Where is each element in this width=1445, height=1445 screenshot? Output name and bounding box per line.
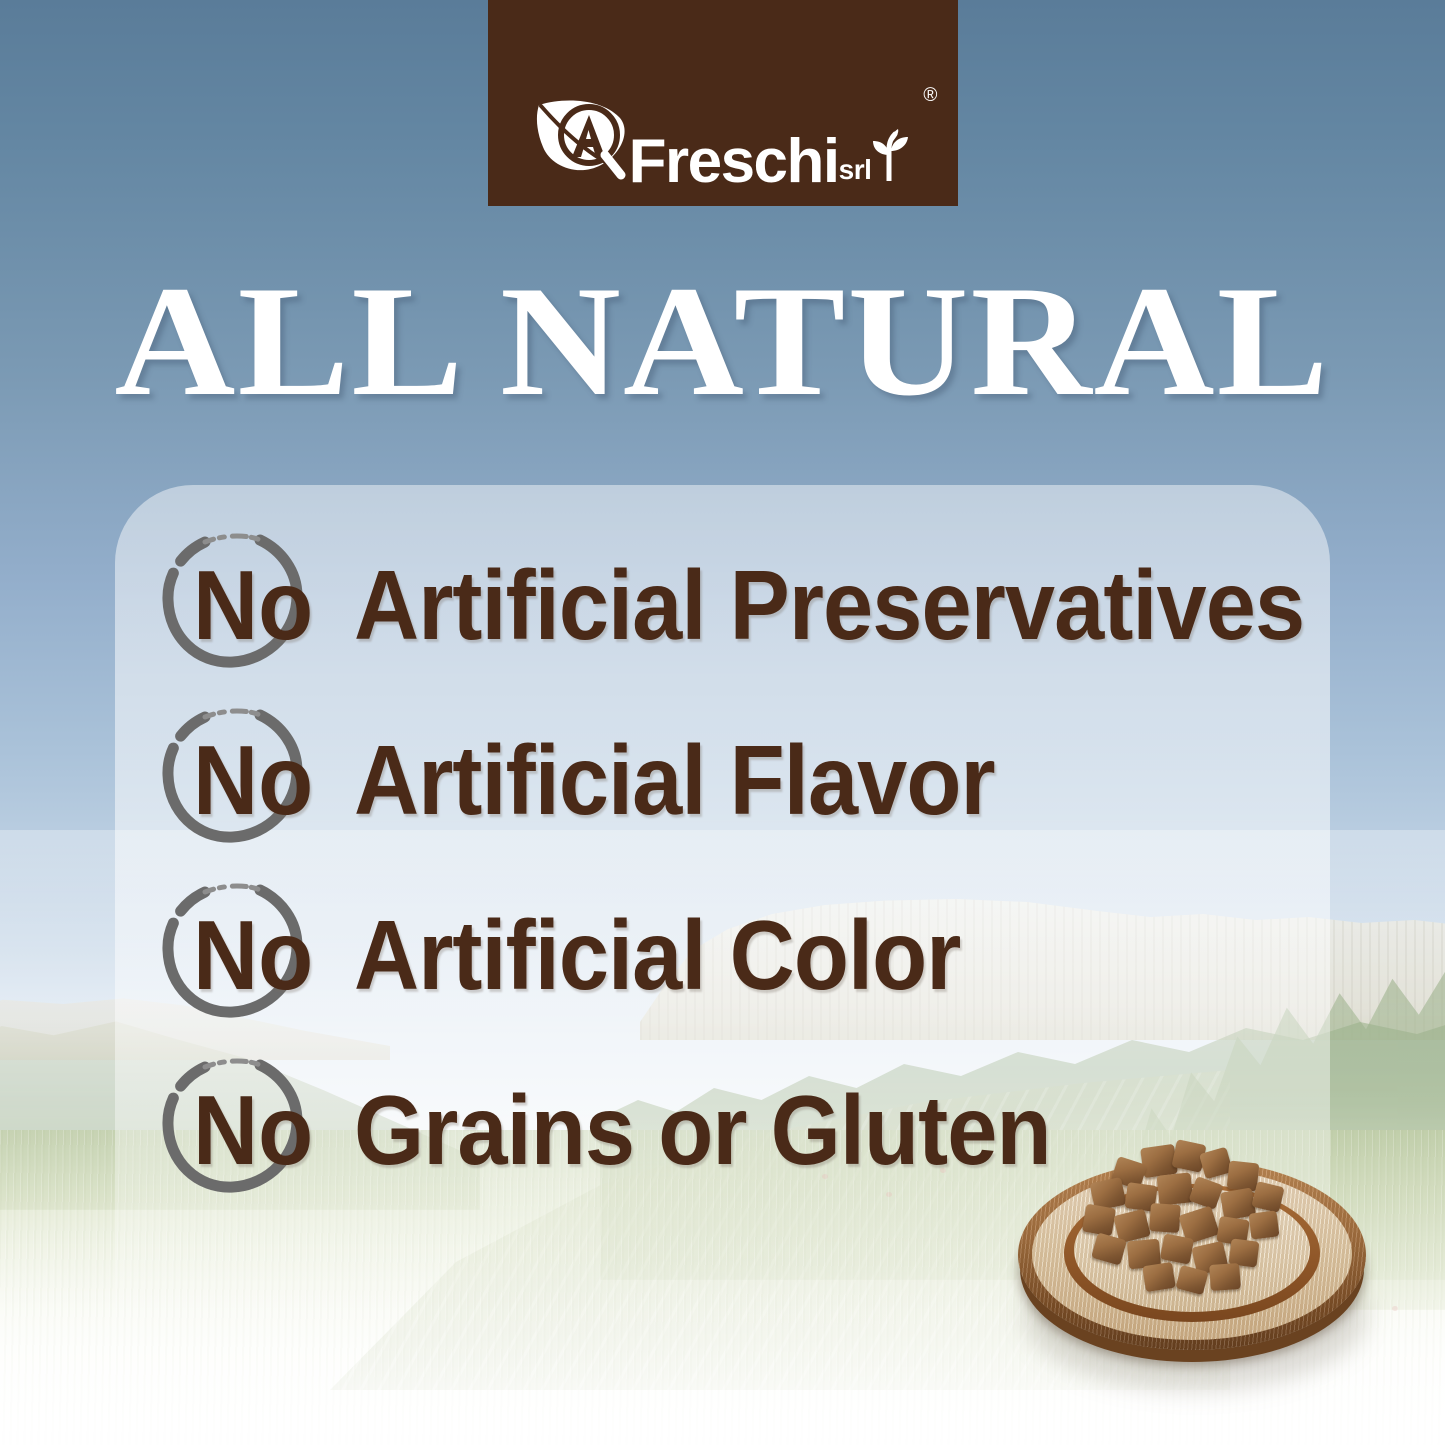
product-image-dog-treats-on-wooden-plate — [1008, 1122, 1378, 1422]
brand-wordmark: Freschi — [629, 137, 839, 188]
plant-sprout-icon — [871, 129, 911, 186]
brand-logo-plate: Freschi srl ® — [488, 0, 958, 206]
no-badge: No — [175, 731, 340, 829]
no-label: No — [193, 1081, 313, 1179]
product-feature-graphic: Freschi srl ® ALL NATURAL — [0, 0, 1445, 1445]
list-item: No Artificial Color — [175, 906, 1355, 1081]
page-title: ALL NATURAL — [0, 263, 1445, 421]
list-item: No Artificial Preservatives — [175, 556, 1355, 731]
list-item: No Artificial Flavor — [175, 731, 1355, 906]
no-label: No — [193, 731, 313, 829]
brand-suffix: srl — [839, 156, 872, 184]
claim-label: Artificial Flavor — [354, 731, 995, 829]
claim-label: Artificial Color — [354, 906, 960, 1004]
leaf-magnifier-a-icon — [535, 91, 639, 188]
brand-logo-lockup: Freschi srl ® — [535, 91, 912, 188]
claim-label: Artificial Preservatives — [354, 556, 1304, 654]
no-badge: No — [175, 1081, 340, 1179]
no-label: No — [193, 906, 313, 1004]
treat-pile — [1070, 1140, 1320, 1305]
registered-trademark-icon: ® — [923, 85, 937, 107]
claim-label: Grains or Gluten — [354, 1081, 1051, 1179]
no-badge: No — [175, 906, 340, 1004]
no-label: No — [193, 556, 313, 654]
no-badge: No — [175, 556, 340, 654]
